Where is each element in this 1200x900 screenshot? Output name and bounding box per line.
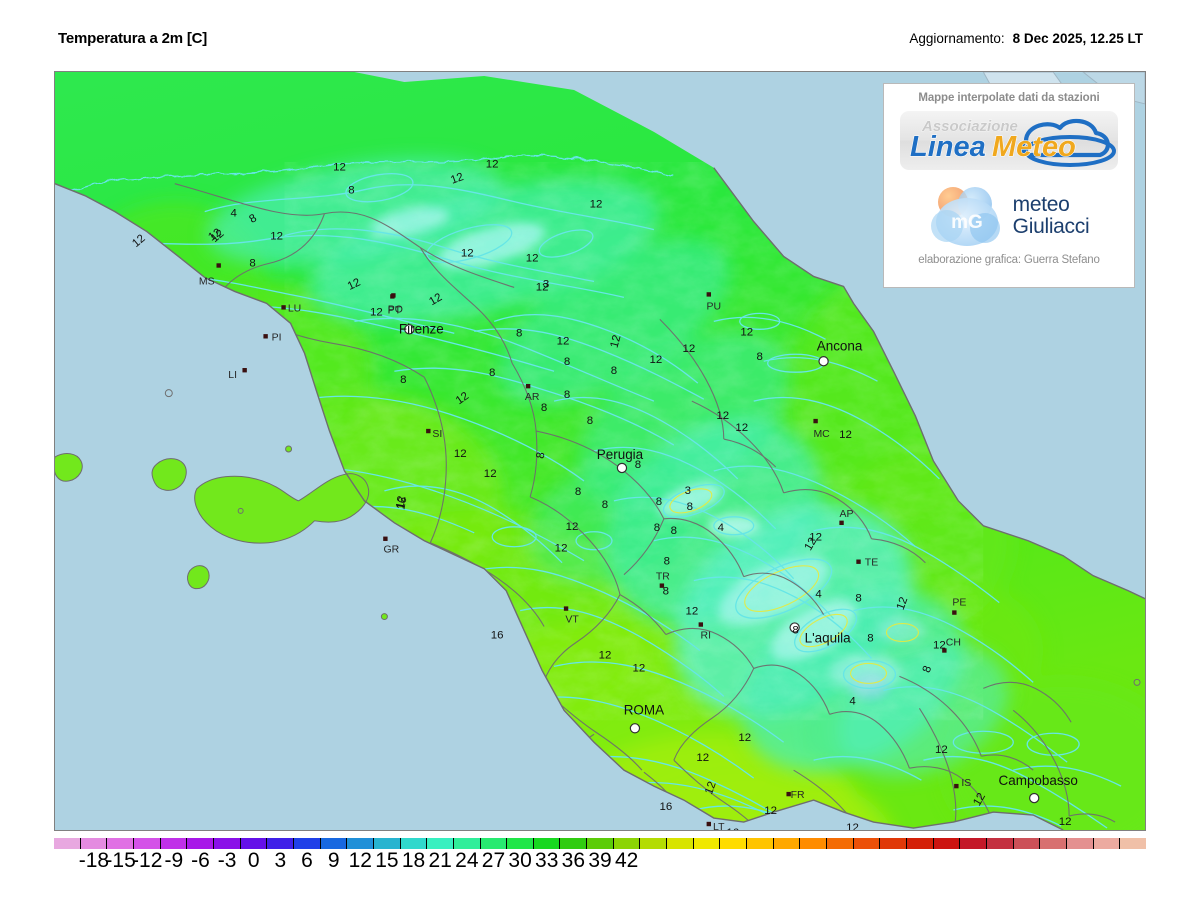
contour-label: 12 [740,326,753,338]
map-container[interactable]: FirenzePerugiaAnconaL'aquilaROMACampobas… [54,71,1146,831]
branding-panel: Mappe interpolate dati da stazioni Assoc… [883,83,1135,288]
contour-label: 12 [764,805,777,817]
colorbar-swatch [507,838,534,849]
province-label: LT [713,822,725,830]
province-label: FR [791,790,805,801]
colorbar-swatch [640,838,667,849]
colorbar-tick-labels: -18-15-12-9-6-30369121518212427303336394… [54,849,1146,879]
giuliacci-line2: Giuliacci [1013,216,1090,238]
contour-label: 4 [815,589,822,601]
colorbar-swatch [800,838,827,849]
contour-label: 8 [489,367,495,379]
colorbar-swatch [614,838,641,849]
colorbar-swatch [694,838,721,849]
colorbar-swatches[interactable] [54,838,1146,849]
colorbar-swatch [1067,838,1094,849]
colorbar-swatch [347,838,374,849]
colorbar-tick-label: 27 [482,849,505,873]
province-marker[interactable] [391,293,395,297]
city-label: ROMA [624,702,664,717]
province-label: RI [701,631,711,642]
contour-label: 16 [395,496,409,511]
colorbar-swatch [907,838,934,849]
colorbar-swatch [880,838,907,849]
contour-label: 8 [587,415,593,427]
colorbar-swatch [934,838,961,849]
city-label: Ancona [817,338,863,353]
colorbar-swatch [161,838,188,849]
province-marker[interactable] [707,822,711,826]
contour-label: 16 [726,827,739,830]
colorbar-swatch [267,838,294,849]
contour-label: 12 [333,162,346,174]
city-marker[interactable] [819,357,828,366]
contour-label: 12 [682,343,695,355]
colorbar-tick-label: 0 [248,849,260,873]
colorbar-tick-label: 39 [588,849,611,873]
colorbar-swatch [294,838,321,849]
colorbar-tick-label: -9 [165,849,184,873]
province-marker[interactable] [856,560,860,564]
colorbar-swatch [587,838,614,849]
contour-label: 8 [516,327,522,339]
lineameteo-logo[interactable]: Associazione Linea Meteo [900,111,1118,170]
colorbar-tick-label: -6 [191,849,210,873]
contour-label: 8 [663,586,669,598]
city-marker[interactable] [617,463,626,472]
province-label: PO [388,304,403,315]
colorbar-swatch [560,838,587,849]
contour-label: 12 [270,231,283,243]
colorbar-swatch [747,838,774,849]
colorbar-swatch [720,838,747,849]
contour-label: 8 [611,365,617,377]
contour-label: 8 [602,499,608,511]
colorbar-tick-label: 12 [349,849,372,873]
mg-monogram: mG [951,212,983,233]
colorbar: -18-15-12-9-6-30369121518212427303336394… [54,838,1146,884]
update-value: 8 Dec 2025, 12.25 LT [1013,31,1143,46]
contour-label: 8 [249,257,255,269]
contour-label: 12 [839,429,852,441]
province-label: GR [384,545,400,556]
colorbar-tick-label: 36 [562,849,585,873]
contour-label: 4 [718,522,725,534]
contour-label: 8 [400,374,406,386]
contour-label: 8 [564,356,570,368]
province-label: AR [525,392,540,403]
colorbar-swatch [1120,838,1146,849]
contour-label: 12 [1139,829,1145,830]
province-marker[interactable] [217,263,221,267]
contour-label: 12 [486,159,499,171]
contour-label: 4 [230,208,237,220]
colorbar-swatch [987,838,1014,849]
panel-caption-top: Mappe interpolate dati da stazioni [892,92,1126,104]
colorbar-swatch [427,838,454,849]
colorbar-tick-label: 3 [275,849,287,873]
meteogiuliacci-wordmark: meteo Giuliacci [1013,194,1090,239]
colorbar-swatch [374,838,401,849]
province-marker[interactable] [839,521,843,525]
contour-label: 12 [526,253,539,265]
colorbar-swatch [134,838,161,849]
lineameteo-line2b: Meteo [992,131,1076,163]
page-title: Temperatura a 2m [C] [58,30,207,47]
province-marker[interactable] [564,606,568,610]
weather-map-page: Temperatura a 2m [C] Aggiornamento:8 Dec… [0,0,1200,900]
colorbar-swatch [481,838,508,849]
contour-label: 8 [656,496,662,508]
province-marker[interactable] [383,537,387,541]
province-label: LI [228,370,237,381]
contour-label: 3 [685,485,691,497]
update-label: Aggiornamento: [909,31,1004,46]
colorbar-tick-label: 30 [508,849,531,873]
contour-label: 12 [566,521,579,533]
contour-label: 8 [687,501,693,513]
contour-label: 8 [575,486,581,498]
province-marker[interactable] [699,622,703,626]
colorbar-swatch [187,838,214,849]
contour-label: 12 [370,306,383,318]
contour-label: 8 [348,185,354,197]
colorbar-swatch [241,838,268,849]
city-label: L'aquila [805,630,851,645]
giuliacci-line1: meteo [1013,194,1090,216]
province-label: AP [840,509,854,520]
colorbar-swatch [667,838,694,849]
province-label: MC [813,429,830,440]
contour-label: 12 [484,468,497,480]
contour-label: 12 [633,662,646,674]
colorbar-swatch [321,838,348,849]
contour-label: 8 [654,522,660,534]
contour-label: 12 [716,410,729,422]
province-marker[interactable] [263,334,267,338]
province-label: TR [656,572,670,583]
province-label: PI [272,332,282,343]
contour-label: 8 [867,633,873,645]
province-label: CH [946,637,961,648]
city-marker[interactable] [1030,793,1039,802]
city-label: Campobasso [999,773,1078,788]
contour-label: 8 [635,459,641,471]
province-marker[interactable] [707,292,711,296]
colorbar-tick-label: 42 [615,849,638,873]
meteogiuliacci-logo[interactable]: mG meteo Giuliacci [892,180,1126,252]
colorbar-tick-label: 9 [328,849,340,873]
contour-label: 12 [933,639,946,651]
contour-label: 8 [541,402,547,414]
contour-label: 12 [738,732,751,744]
province-marker[interactable] [281,305,285,309]
lineameteo-logo-graphic: Associazione Linea Meteo [900,111,1118,170]
contour-label: 12 [846,822,859,830]
contour-label: 4 [849,695,856,707]
contour-label: 8 [564,389,570,401]
contour-label: 16 [491,630,504,642]
contour-label: 12 [685,606,698,618]
province-label: SI [432,429,442,440]
colorbar-tick-label: 15 [375,849,398,873]
colorbar-tick-label: 21 [429,849,452,873]
colorbar-swatch [1040,838,1067,849]
city-label: Firenze [399,321,444,336]
colorbar-swatch [54,838,81,849]
colorbar-swatch [81,838,108,849]
colorbar-swatch [960,838,987,849]
colorbar-swatch [1094,838,1121,849]
province-label: PE [952,598,966,609]
province-label: MS [199,276,215,287]
colorbar-tick-label: -12 [132,849,162,873]
contour-label: 12 [555,543,568,555]
colorbar-tick-label: -3 [218,849,237,873]
colorbar-swatch [827,838,854,849]
contour-label: 12 [735,422,748,434]
meteogiuliacci-logo-graphic: mG [929,182,1005,250]
colorbar-swatch [454,838,481,849]
province-marker[interactable] [952,610,956,614]
contour-label: 12 [1059,816,1072,828]
contour-label: 12 [461,248,474,260]
colorbar-swatch [774,838,801,849]
contour-label: 12 [935,744,948,756]
colorbar-swatch [401,838,428,849]
colorbar-swatch [854,838,881,849]
colorbar-tick-label: 18 [402,849,425,873]
panel-caption-bottom: elaborazione grafica: Guerra Stefano [892,254,1126,266]
contour-label: 8 [757,351,763,363]
province-label: PU [707,301,722,312]
province-label: IS [961,778,971,789]
province-label: LU [288,303,301,314]
contour-label: 8 [671,525,677,537]
colorbar-tick-label: 24 [455,849,478,873]
contour-label: 8 [855,593,861,605]
colorbar-tick-label: 6 [301,849,313,873]
contour-label: 12 [557,335,570,347]
contour-label: 16 [659,801,672,813]
city-marker[interactable] [630,724,639,733]
province-label: TE [865,558,878,569]
contour-label: 12 [590,199,603,211]
province-marker[interactable] [813,419,817,423]
province-label: VT [565,615,579,626]
contour-label: 12 [599,649,612,661]
contour-label: 12 [696,752,709,764]
colorbar-swatch [107,838,134,849]
colorbar-swatch [534,838,561,849]
contour-label: 3 [543,278,549,290]
colorbar-swatch [214,838,241,849]
province-marker[interactable] [526,384,530,388]
colorbar-tick-label: 33 [535,849,558,873]
province-marker[interactable] [426,429,430,433]
colorbar-swatch [1014,838,1041,849]
lineameteo-line2a: Linea [910,131,986,163]
contour-label: 12 [454,448,467,460]
province-marker[interactable] [954,784,958,788]
province-marker[interactable] [242,368,246,372]
contour-label: 8 [664,556,670,568]
update-timestamp: Aggiornamento:8 Dec 2025, 12.25 LT [909,31,1143,46]
contour-label: 8 [792,625,798,637]
contour-label: 12 [650,354,663,366]
